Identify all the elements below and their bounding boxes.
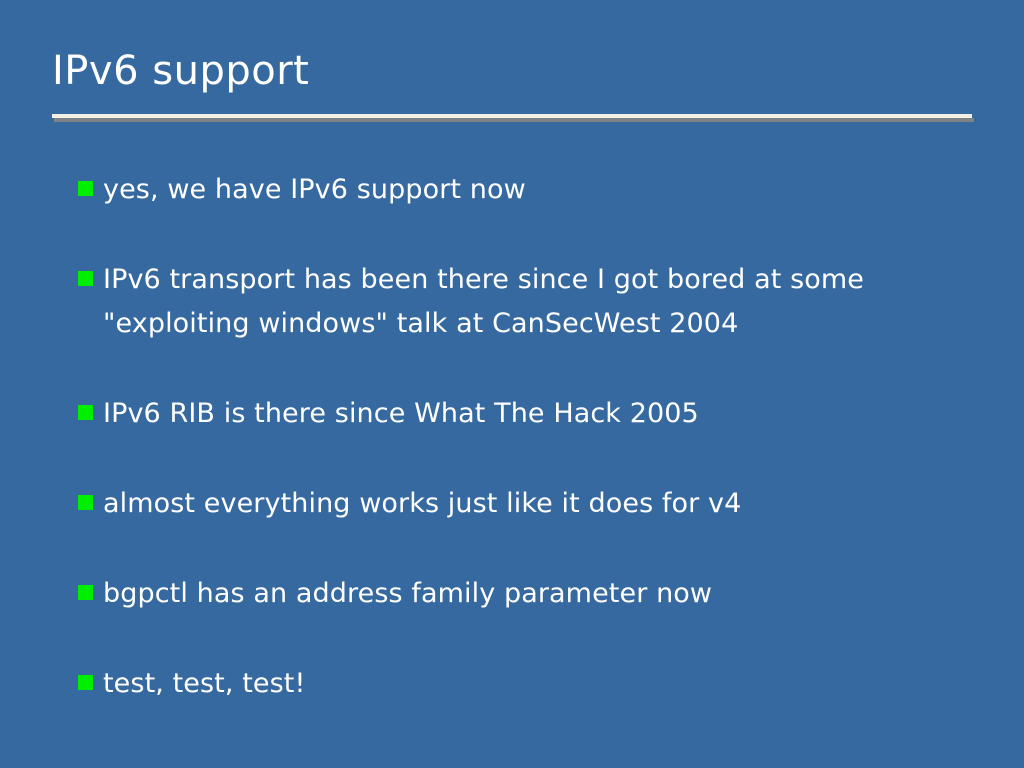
list-item-label: IPv6 transport has been there since I go… (103, 258, 968, 346)
square-bullet-icon (78, 181, 93, 196)
list-item-label: IPv6 RIB is there since What The Hack 20… (103, 392, 968, 436)
square-bullet-icon (78, 585, 93, 600)
title-block: IPv6 support (52, 44, 972, 98)
list-item-label: bgpctl has an address family parameter n… (103, 572, 968, 616)
list-item-label: yes, we have IPv6 support now (103, 168, 968, 212)
square-bullet-icon (78, 675, 93, 690)
page-title: IPv6 support (52, 44, 972, 98)
bullet-list: yes, we have IPv6 support now IPv6 trans… (78, 168, 968, 752)
square-bullet-icon (78, 271, 93, 286)
list-item-label: test, test, test! (103, 662, 968, 706)
square-bullet-icon (78, 495, 93, 510)
list-item: yes, we have IPv6 support now (78, 168, 968, 212)
presentation-slide: IPv6 support yes, we have IPv6 support n… (0, 0, 1024, 768)
square-bullet-icon (78, 405, 93, 420)
list-item: IPv6 RIB is there since What The Hack 20… (78, 392, 968, 436)
list-item: test, test, test! (78, 662, 968, 706)
list-item: IPv6 transport has been there since I go… (78, 258, 968, 346)
title-divider-shadow (54, 118, 974, 122)
list-item: almost everything works just like it doe… (78, 482, 968, 526)
list-item-label: almost everything works just like it doe… (103, 482, 968, 526)
list-item: bgpctl has an address family parameter n… (78, 572, 968, 616)
